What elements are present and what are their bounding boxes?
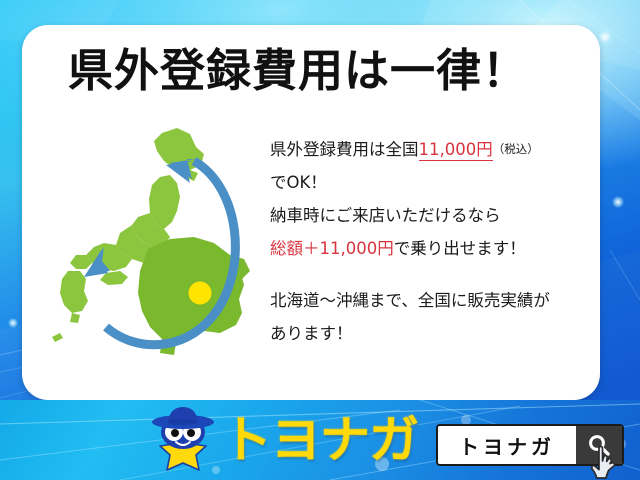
page-title: 県外登録費用は一律！ xyxy=(68,47,568,95)
copy-line-6: あります！ xyxy=(270,317,600,350)
dealer-location-marker xyxy=(189,282,211,304)
search-input-value: トヨナガ xyxy=(459,431,555,460)
copy-line-4: 総額＋11,000円で乗り出せます！ xyxy=(270,232,600,265)
tax-note: （税込） xyxy=(493,142,539,156)
copy-line-1-pre: 県外登録費用は全国 xyxy=(270,140,419,159)
brand-wordmark: トヨナガ xyxy=(222,409,418,471)
copy-line-2: でOK！ xyxy=(270,166,600,199)
copy-line-3: 納車時にご来店いただけるなら xyxy=(270,199,600,232)
japan-map-illustration xyxy=(44,121,270,400)
bg-light-dot xyxy=(612,196,624,208)
body-copy: 県外登録費用は全国11,000円（税込） でOK！ 納車時にご来店いただけるなら… xyxy=(270,133,600,350)
price-total: 総額＋11,000円 xyxy=(270,239,394,258)
copy-line-1: 県外登録費用は全国11,000円（税込） xyxy=(270,133,600,166)
copy-line-5: 北海道〜沖縄まで、全国に販売実績が xyxy=(270,284,600,317)
mascot-hat xyxy=(152,407,214,429)
content-card: 県外登録費用は一律！ 県外登録費用は全国11,000円（税込） でOK！ 納車時… xyxy=(22,25,600,400)
copy-line-4-post: で乗り出せます！ xyxy=(394,239,526,258)
japan-map-svg xyxy=(44,121,270,400)
copy-spacer xyxy=(270,265,600,284)
slide-root: 県外登録費用は一律！ 県外登録費用は全国11,000円（税込） でOK！ 納車時… xyxy=(0,0,640,480)
hand-pointer-icon xyxy=(588,444,622,480)
search-input[interactable]: トヨナガ xyxy=(438,426,576,464)
toyonaga-mascot xyxy=(146,406,220,478)
bg-light-dot xyxy=(8,318,18,328)
price-primary: 11,000円 xyxy=(419,140,493,161)
